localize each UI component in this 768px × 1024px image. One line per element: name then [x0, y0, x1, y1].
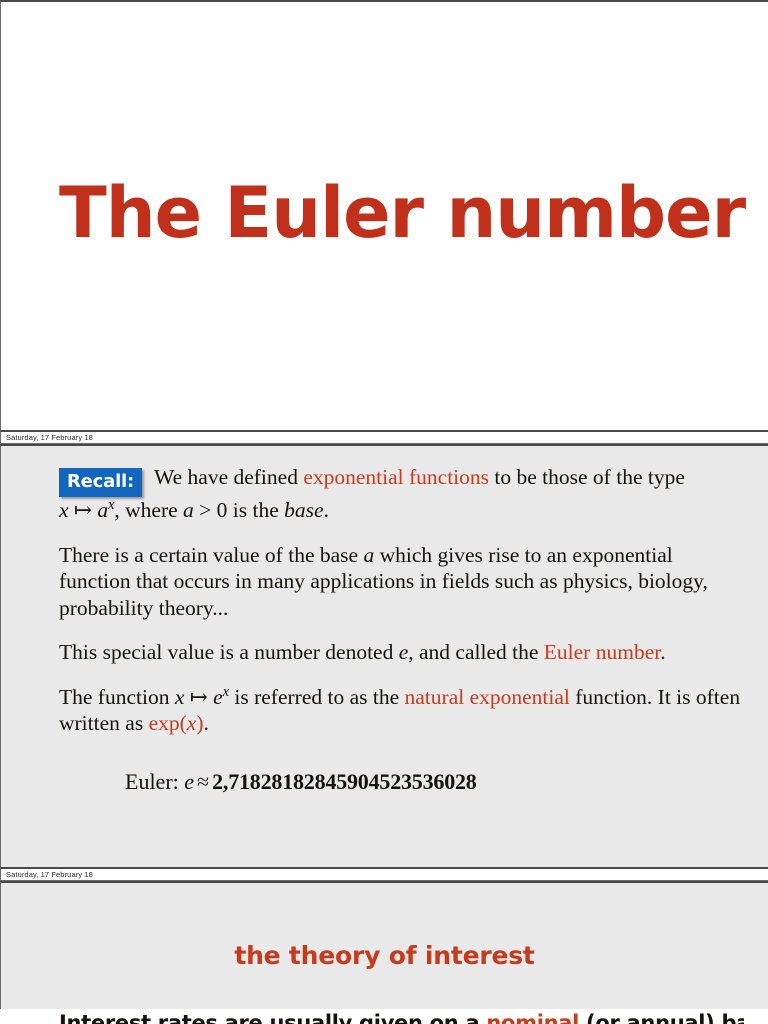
slide-deck-page: The Euler number Saturday, 17 February 1…	[0, 0, 768, 1024]
natural-exp-text-4: .	[203, 711, 208, 735]
recall-text-5: .	[324, 498, 329, 522]
recall-text-1: We have defined	[154, 465, 303, 489]
slide-2-footer: Saturday, 17 February 18	[0, 867, 768, 881]
euler-constant-line: Euler: e≈2,71828182845904523536028	[59, 767, 744, 797]
page-title: The Euler number	[59, 170, 745, 256]
paragraph-certain-value: There is a certain value of the base a w…	[59, 542, 744, 622]
math-mapsto: ↦	[69, 498, 98, 522]
interest-text-1: Interest rates are usually given on a	[59, 1011, 486, 1024]
slide-1-title: The Euler number	[0, 0, 768, 430]
highlight-nominal: nominal	[486, 1011, 579, 1024]
natural-exp-text-2: is referred to as the	[229, 685, 405, 709]
paragraph-special-value: This special value is a number denoted e…	[59, 639, 744, 666]
special-value-text-2: , and called the	[408, 640, 544, 664]
special-value-text-1: This special value is a number denoted	[59, 640, 399, 664]
slide-2-content: Recall:We have defined exponential funct…	[59, 464, 744, 797]
interest-text-2: (or annual) basis. But the	[579, 1011, 744, 1024]
math-a-2: a	[183, 498, 194, 522]
highlight-exp-open: exp(	[149, 711, 187, 735]
slide-3-interest: the theory of interest Interest rates ar…	[0, 881, 768, 1009]
highlight-exp-argument-x: x	[187, 711, 197, 735]
recall-text-2: to be those of the type	[489, 465, 685, 489]
emphasis-base: base	[284, 498, 323, 522]
footer-date: Saturday, 17 February 18	[6, 434, 93, 442]
recall-badge: Recall:	[59, 468, 142, 497]
math-e-2: e	[213, 685, 223, 709]
math-mapsto-2: ↦	[184, 685, 213, 709]
math-x: x	[59, 498, 69, 522]
math-e: e	[399, 640, 409, 664]
euler-symbol-e: e	[184, 769, 194, 794]
highlight-euler-number: Euler number	[544, 640, 660, 664]
recall-text-4: > 0 is the	[194, 498, 284, 522]
slide-1-footer: Saturday, 17 February 18	[0, 430, 768, 444]
slide-2-recall: Recall:We have defined exponential funct…	[0, 444, 768, 867]
math-a-3: a	[363, 543, 374, 567]
highlight-exponential-functions: exponential functions	[303, 465, 489, 489]
math-x-2: x	[175, 685, 185, 709]
recall-text-3: , where	[114, 498, 183, 522]
footer-date-2: Saturday, 17 February 18	[6, 871, 93, 879]
approx-equals-icon: ≈	[194, 769, 212, 794]
paragraph-natural-exponential: The function x ↦ ex is referred to as th…	[59, 684, 744, 737]
euler-constant-value: 2,71828182845904523536028	[212, 769, 477, 794]
certain-value-text-1: There is a certain value of the base	[59, 543, 363, 567]
paragraph-recall: Recall:We have defined exponential funct…	[59, 464, 744, 524]
math-a: a	[97, 498, 108, 522]
natural-exp-text-1: The function	[59, 685, 175, 709]
interest-body-text: Interest rates are usually given on a no…	[59, 1009, 744, 1024]
special-value-text-3: .	[660, 640, 665, 664]
euler-label: Euler:	[125, 769, 179, 794]
highlight-natural-exponential: natural exponential	[405, 685, 570, 709]
interest-section-title: the theory of interest	[1, 941, 768, 971]
